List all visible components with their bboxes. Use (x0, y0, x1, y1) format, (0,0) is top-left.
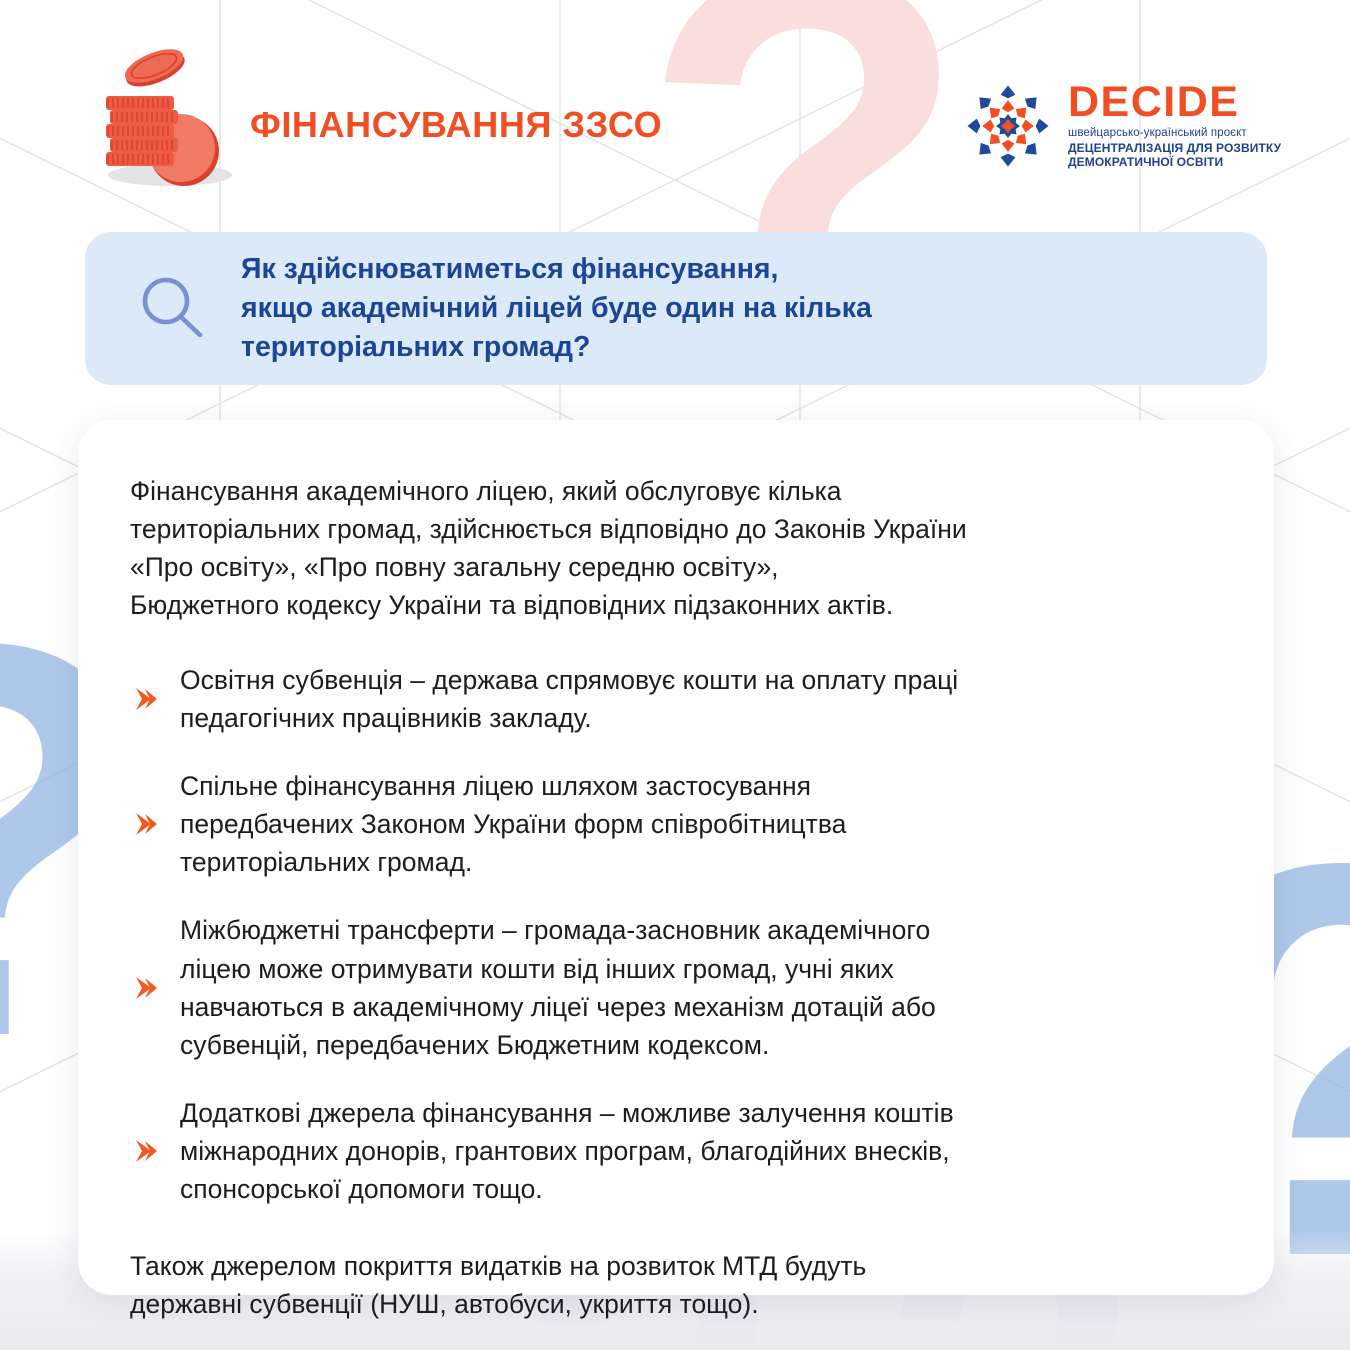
decide-tagline-mission-line-2: ДЕМОКРАТИЧНОЇ ОСВІТИ (1068, 155, 1281, 169)
decide-tagline-project: швейцарсько-український проєкт (1068, 127, 1281, 139)
bullet-2-line-3: територіальних громад. (180, 843, 846, 881)
decide-tagline-mission-line-1: ДЕЦЕНТРАЛІЗАЦІЯ ДЛЯ РОЗВИТКУ (1068, 141, 1281, 155)
outro-line-2: державні субвенції (НУШ, автобуси, укрит… (130, 1285, 1214, 1323)
page-header: ФІНАНСУВАННЯ ЗЗСО (0, 0, 1350, 232)
coins-stack-icon (92, 42, 242, 192)
bullet-3-line-1: Міжбюджетні трансферти – громада-засновн… (180, 911, 936, 949)
bullet-1-line-1: Освітня субвенція – держава спрямовує ко… (180, 661, 958, 699)
intro-line-3: «Про освіту», «Про повну загальну середн… (130, 548, 1214, 586)
bullet-4-line-1: Додаткові джерела фінансування – можливе… (180, 1094, 954, 1132)
question-line-1: Як здійснюватиметься фінансування, (241, 250, 872, 289)
decide-logo-text: DECIDE швейцарсько-український проєкт ДЕ… (1068, 82, 1281, 169)
question-line-2: якщо академічний ліцей буде один на кіль… (241, 289, 872, 328)
decide-wordmark: DECIDE (1068, 82, 1281, 123)
decide-tagline-mission: ДЕЦЕНТРАЛІЗАЦІЯ ДЛЯ РОЗВИТКУ ДЕМОКРАТИЧН… (1068, 141, 1281, 169)
bullet-3-line-2: ліцею може отримувати кошти від інших гр… (180, 950, 936, 988)
outro-paragraph: Також джерелом покриття видатків на розв… (130, 1247, 1214, 1323)
bullet-3-line-3: навчаються в академічному ліцеї через ме… (180, 988, 936, 1026)
list-item-text: Спільне фінансування ліцею шляхом застос… (180, 767, 846, 881)
bullet-2-line-1: Спільне фінансування ліцею шляхом застос… (180, 767, 846, 805)
list-item-text: Освітня субвенція – держава спрямовує ко… (180, 661, 958, 737)
infographic-page: ? ? ? ? ? (0, 0, 1350, 1350)
question-line-3: територіальних громад? (241, 328, 872, 367)
question-banner: Як здійснюватиметься фінансування, якщо … (85, 232, 1267, 385)
intro-paragraph: Фінансування академічного ліцею, який об… (130, 472, 1214, 625)
bullet-1-line-2: педагогічних працівників закладу. (180, 699, 958, 737)
intro-line-4: Бюджетного кодексу України та відповідни… (130, 586, 1214, 624)
question-text: Як здійснюватиметься фінансування, якщо … (241, 250, 872, 368)
decide-logo: DECIDE швейцарсько-український проєкт ДЕ… (962, 80, 1281, 172)
chevron-right-icon (130, 1134, 164, 1168)
bullet-list: Освітня субвенція – держава спрямовує ко… (130, 661, 1214, 1209)
bullet-4-line-3: спонсорської допомоги тощо. (180, 1170, 954, 1208)
chevron-right-icon (130, 682, 164, 716)
chevron-right-icon (130, 971, 164, 1005)
intro-line-2: територіальних громад, здійснюється відп… (130, 510, 1214, 548)
intro-line-1: Фінансування академічного ліцею, який об… (130, 472, 1214, 510)
search-icon (137, 273, 209, 345)
list-item: Додаткові джерела фінансування – можливе… (130, 1094, 1214, 1208)
list-item-text: Міжбюджетні трансферти – громада-засновн… (180, 911, 936, 1064)
list-item: Спільне фінансування ліцею шляхом застос… (130, 767, 1214, 881)
decide-snowflake-emblem (962, 80, 1054, 172)
list-item-text: Додаткові джерела фінансування – можливе… (180, 1094, 954, 1208)
list-item: Освітня субвенція – держава спрямовує ко… (130, 661, 1214, 737)
outro-line-1: Також джерелом покриття видатків на розв… (130, 1247, 1214, 1285)
list-item: Міжбюджетні трансферти – громада-засновн… (130, 911, 1214, 1064)
bullet-3-line-4: субвенцій, передбачених Бюджетним кодекс… (180, 1026, 936, 1064)
chevron-right-icon (130, 807, 164, 841)
bullet-4-line-2: міжнародних донорів, грантових програм, … (180, 1132, 954, 1170)
bullet-2-line-2: передбачених Законом України форм співро… (180, 805, 846, 843)
answer-card: Фінансування академічного ліцею, який об… (78, 420, 1274, 1295)
page-title: ФІНАНСУВАННЯ ЗЗСО (250, 104, 662, 146)
